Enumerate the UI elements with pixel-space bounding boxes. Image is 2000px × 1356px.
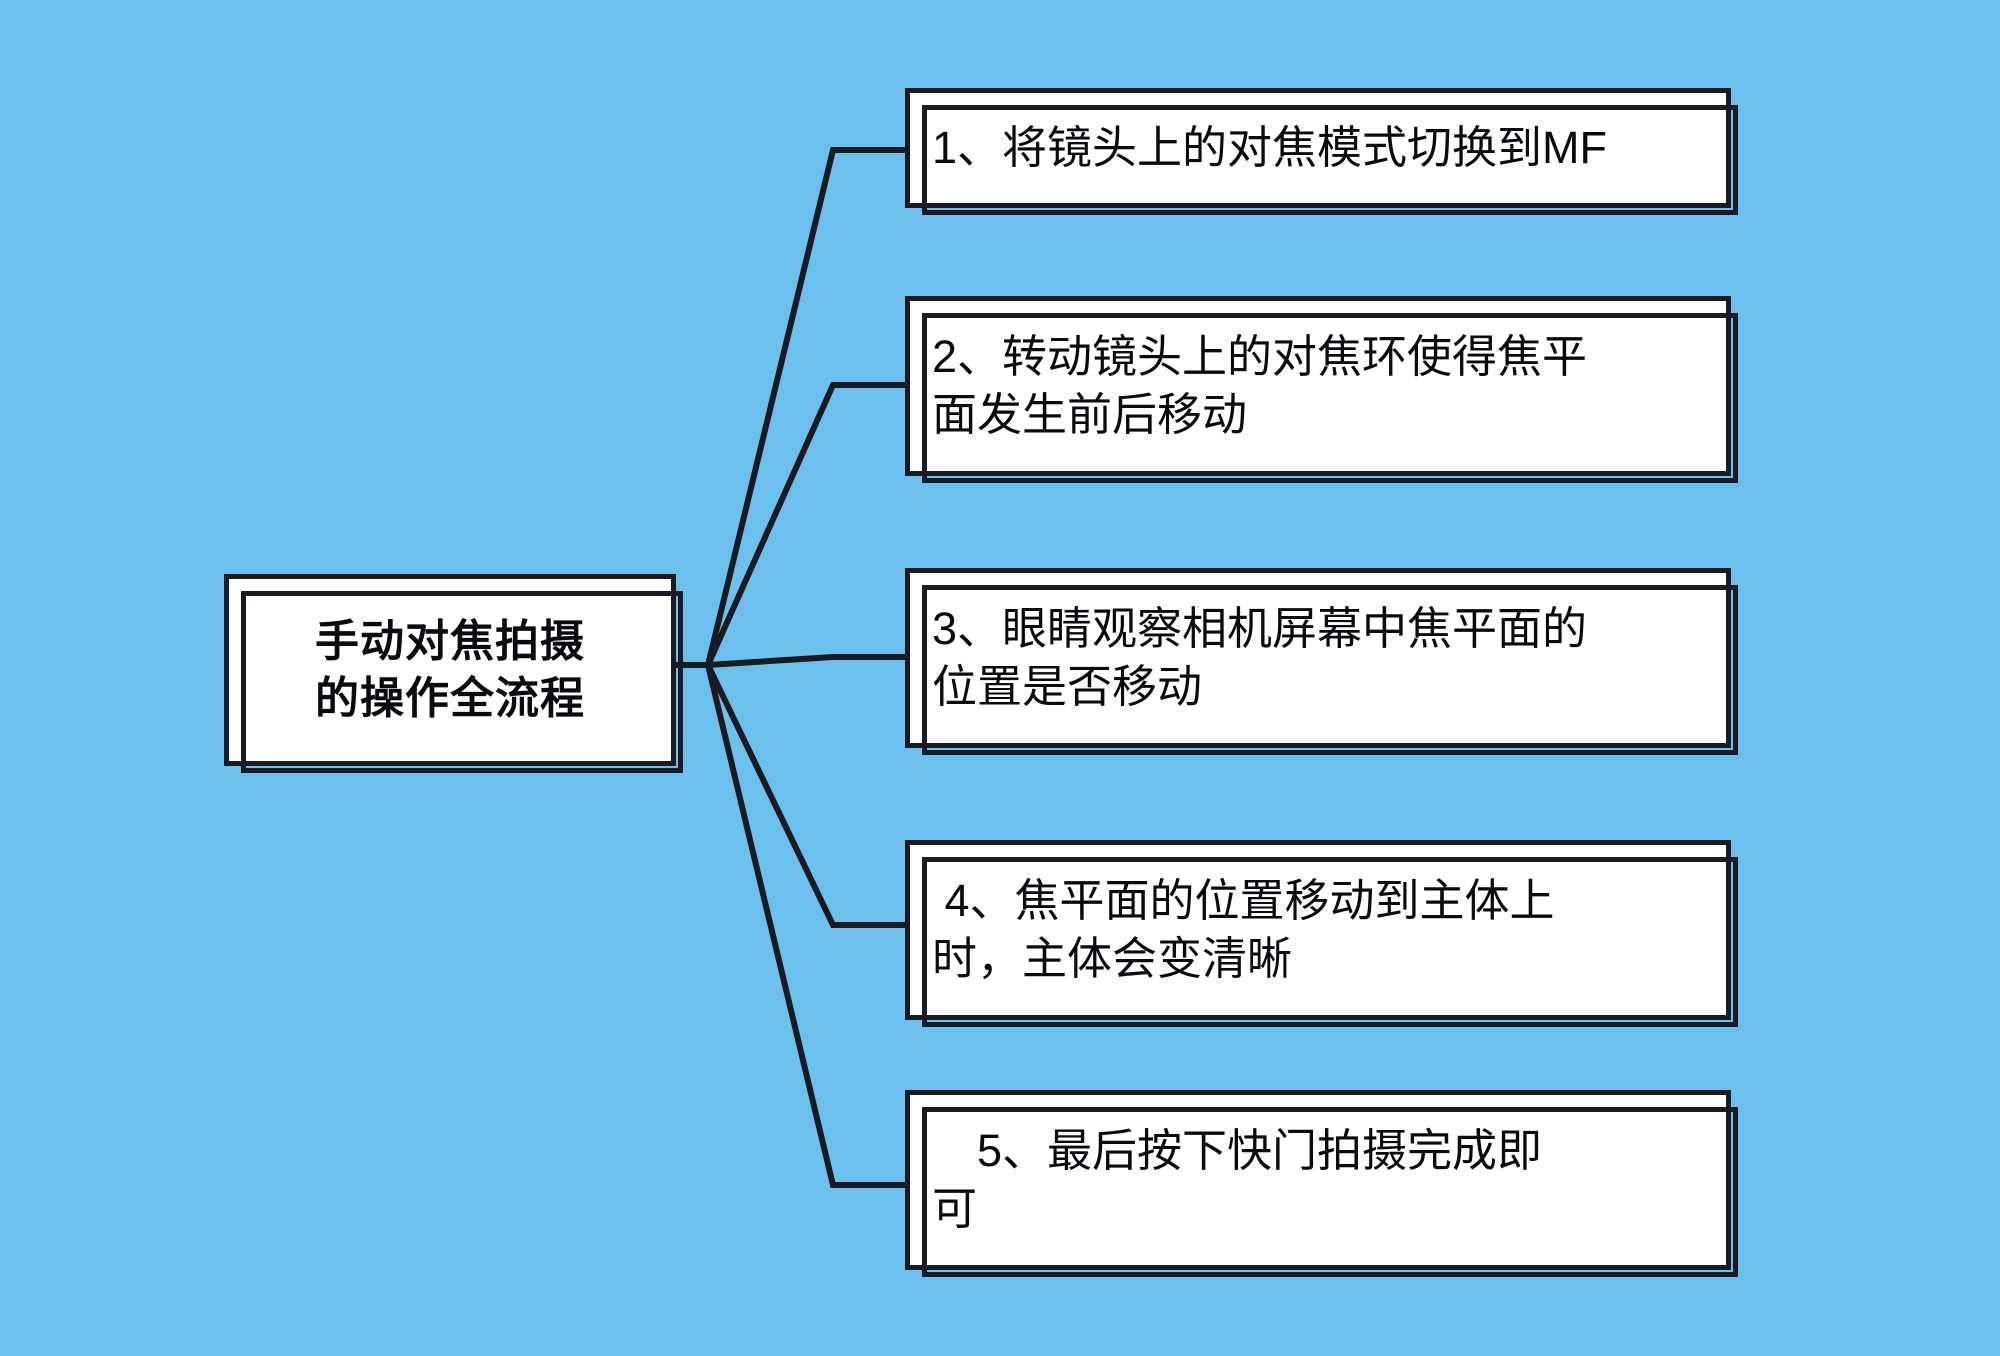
branch-node-3[interactable]: 3、眼睛观察相机屏幕中焦平面的 位置是否移动 xyxy=(905,568,1731,748)
connector-branch-5 xyxy=(708,665,905,1185)
connector-branch-2 xyxy=(708,385,905,665)
branch-node-5[interactable]: 5、最后按下快门拍摄完成即 可 xyxy=(905,1090,1731,1270)
connector-branch-4 xyxy=(708,665,905,925)
connector-branch-3 xyxy=(708,657,905,665)
branch-node-2-label: 2、转动镜头上的对焦环使得焦平 面发生前后移动 xyxy=(910,328,1726,445)
branch-node-4-label: 4、焦平面的位置移动到主体上 时，主体会变清晰 xyxy=(910,872,1726,989)
branch-node-1-label: 1、将镜头上的对焦模式切换到MF xyxy=(910,119,1726,178)
branch-node-3-label: 3、眼睛观察相机屏幕中焦平面的 位置是否移动 xyxy=(910,600,1726,717)
branch-node-1[interactable]: 1、将镜头上的对焦模式切换到MF xyxy=(905,88,1731,208)
connector-branch-1 xyxy=(708,150,905,665)
central-node[interactable]: 手动对焦拍摄 的操作全流程 xyxy=(224,574,676,766)
branch-node-4[interactable]: 4、焦平面的位置移动到主体上 时，主体会变清晰 xyxy=(905,840,1731,1020)
branch-node-2[interactable]: 2、转动镜头上的对焦环使得焦平 面发生前后移动 xyxy=(905,296,1731,476)
central-node-label: 手动对焦拍摄 的操作全流程 xyxy=(229,613,671,727)
mindmap-canvas: 手动对焦拍摄 的操作全流程 1、将镜头上的对焦模式切换到MF 2、转动镜头上的对… xyxy=(0,0,2000,1356)
branch-node-5-label: 5、最后按下快门拍摄完成即 可 xyxy=(910,1122,1726,1239)
